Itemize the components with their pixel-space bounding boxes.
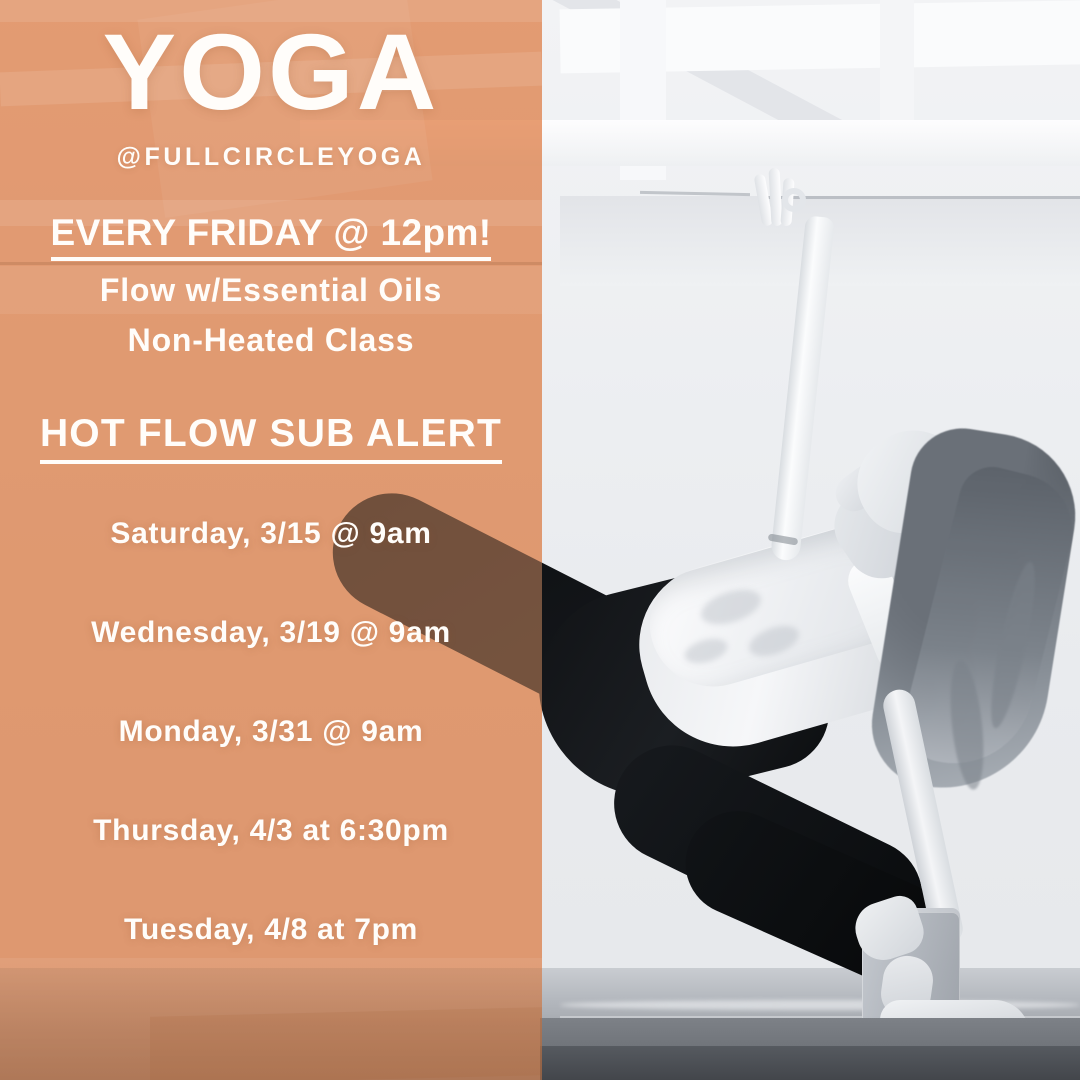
raised-hand-mudra bbox=[752, 168, 808, 242]
recurring-class-headline: EVERY FRIDAY @ 12pm! bbox=[0, 212, 542, 254]
text-panel: YOGA @FULLCIRCLEYOGA EVERY FRIDAY @ 12pm… bbox=[0, 0, 542, 1080]
list-item: Tuesday, 4/8 at 7pm bbox=[0, 910, 542, 1009]
page-title: YOGA bbox=[0, 18, 547, 126]
recurring-class-line-2: Non-Heated Class bbox=[0, 322, 542, 359]
sub-alert-heading: HOT FLOW SUB ALERT bbox=[0, 412, 542, 456]
yoga-mat-dark-edge bbox=[540, 1046, 1080, 1080]
sub-alert-heading-text: HOT FLOW SUB ALERT bbox=[40, 412, 502, 464]
list-item: Thursday, 4/3 at 6:30pm bbox=[0, 811, 542, 910]
mudra-circle bbox=[782, 188, 806, 212]
list-item: Wednesday, 3/19 @ 9am bbox=[0, 613, 542, 712]
recurring-class-headline-text: EVERY FRIDAY @ 12pm! bbox=[51, 212, 492, 261]
instagram-handle: @FULLCIRCLEYOGA bbox=[0, 143, 542, 172]
raised-arm bbox=[770, 215, 835, 561]
list-item: Monday, 3/31 @ 9am bbox=[0, 712, 542, 811]
schedule-list: Saturday, 3/15 @ 9am Wednesday, 3/19 @ 9… bbox=[0, 514, 542, 1009]
list-item: Saturday, 3/15 @ 9am bbox=[0, 514, 542, 613]
recurring-class-line-1: Flow w/Essential Oils bbox=[0, 272, 542, 309]
yoga-flyer: YOGA @FULLCIRCLEYOGA EVERY FRIDAY @ 12pm… bbox=[0, 0, 1080, 1080]
